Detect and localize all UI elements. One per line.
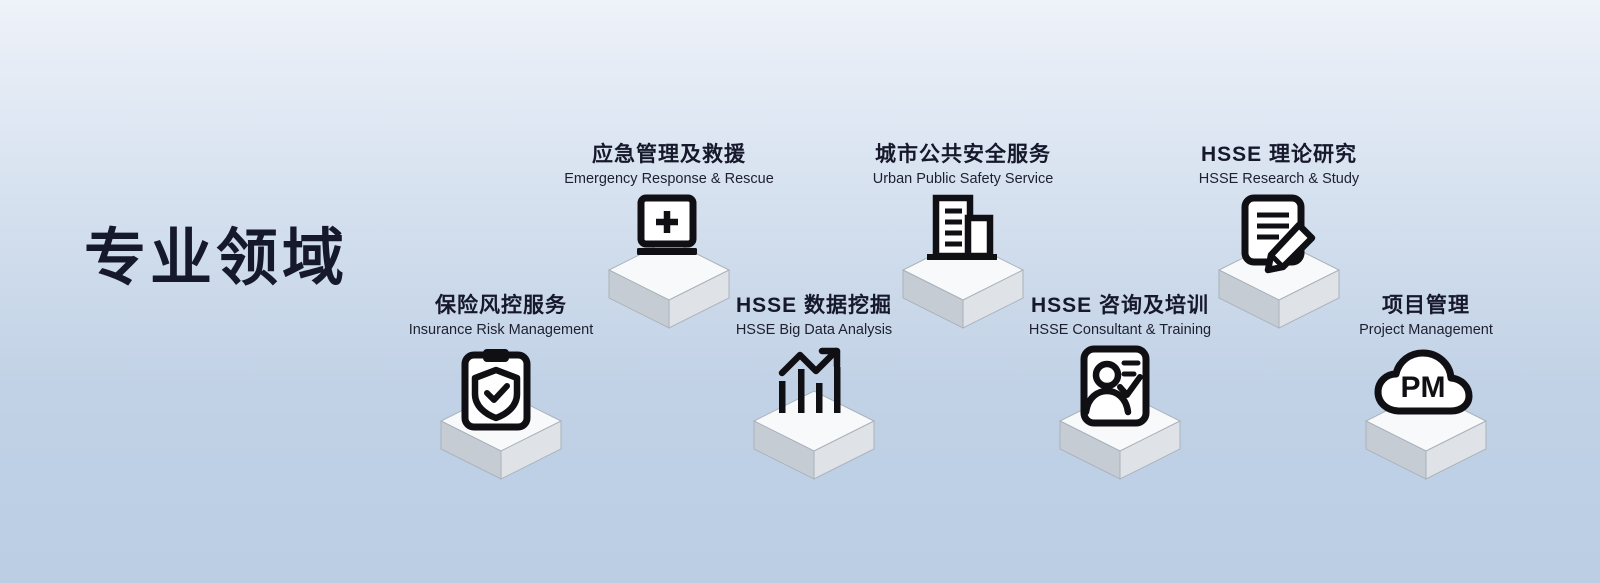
domain-card-project-management[interactable]: 项目管理Project Management [1276, 294, 1576, 469]
domain-card-hsse-research-study[interactable]: HSSE 理论研究HSSE Research & Study [1129, 143, 1429, 318]
domain-card-urban-public-safety-service[interactable]: 城市公共安全服务Urban Public Safety Service [813, 143, 1113, 318]
domain-label-zh: HSSE 理论研究 [1129, 143, 1429, 166]
page-title: 专业领域 [84, 228, 348, 290]
domain-illustration [970, 349, 1270, 469]
domain-illustration [351, 349, 651, 469]
domain-illustration [1276, 349, 1576, 469]
domain-label-en: Urban Public Safety Service [813, 171, 1113, 188]
pedestal-block [754, 391, 874, 479]
first-aid-monitor-plus-icon [637, 198, 697, 255]
document-pencil-icon [1245, 198, 1312, 270]
domain-label-en: Project Management [1276, 322, 1576, 339]
domain-label-en: Emergency Response & Rescue [519, 171, 819, 188]
clipboard-shield-check-icon [465, 349, 527, 427]
domain-label-en: HSSE Research & Study [1129, 171, 1429, 188]
professional-fields-banner: 专业领域 保险风控服务Insurance Risk Management应急管理… [0, 0, 1600, 583]
city-buildings-icon [927, 198, 997, 260]
domain-label-zh: 应急管理及救援 [519, 143, 819, 166]
cloud-pm-icon [1378, 353, 1469, 411]
domain-card-emergency-response-rescue[interactable]: 应急管理及救援Emergency Response & Rescue [519, 143, 819, 318]
person-id-card-check-icon [1084, 349, 1146, 423]
domain-label-zh: 项目管理 [1276, 294, 1576, 317]
domain-label-zh: 城市公共安全服务 [813, 143, 1113, 166]
domain-illustration [664, 349, 964, 469]
